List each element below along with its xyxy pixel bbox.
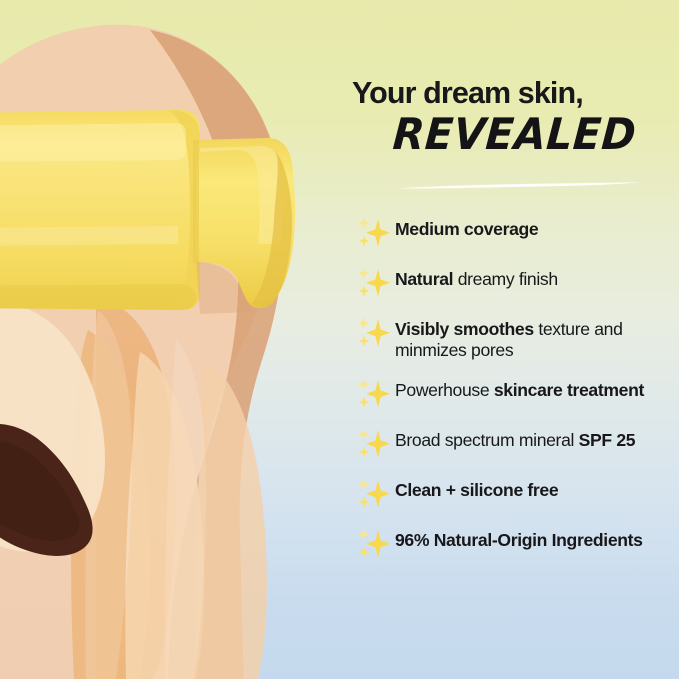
sparkle-icon: [354, 316, 392, 350]
list-item: Medium coverage: [354, 216, 679, 250]
product-artwork: [0, 0, 350, 679]
list-item: Visibly smoothes texture and minmizes po…: [354, 316, 679, 361]
sparkle-icon: [354, 527, 392, 561]
feature-text: Powerhouse skincare treatment: [395, 377, 644, 401]
headline: Your dream skin, REVEALED: [352, 78, 679, 155]
sparkle-icon: [354, 266, 392, 300]
product-feature-poster: Your dream skin, REVEALED Medium coverag…: [0, 0, 679, 679]
sparkle-icon: [354, 477, 392, 511]
sparkle-icon: [354, 427, 392, 461]
feature-text: Visibly smoothes texture and minmizes po…: [395, 316, 679, 361]
copy-panel: Your dream skin, REVEALED Medium coverag…: [352, 0, 679, 679]
list-item: Broad spectrum mineral SPF 25: [354, 427, 679, 461]
list-item: Powerhouse skincare treatment: [354, 377, 679, 411]
feature-list: Medium coverage Natural dreamy finish: [354, 216, 679, 577]
brush-underline-icon: [394, 181, 642, 190]
list-item: 96% Natural-Origin Ingredients: [354, 527, 679, 561]
headline-line-1: Your dream skin,: [352, 78, 679, 109]
list-item: Clean + silicone free: [354, 477, 679, 511]
feature-text: 96% Natural-Origin Ingredients: [395, 527, 643, 551]
list-item: Natural dreamy finish: [354, 266, 679, 300]
sparkle-icon: [354, 377, 392, 411]
feature-text: Broad spectrum mineral SPF 25: [395, 427, 635, 451]
feature-text: Clean + silicone free: [395, 477, 558, 501]
feature-text: Natural dreamy finish: [395, 266, 558, 290]
headline-line-2: REVEALED: [391, 112, 679, 155]
feature-text: Medium coverage: [395, 216, 538, 240]
sparkle-icon: [354, 216, 392, 250]
